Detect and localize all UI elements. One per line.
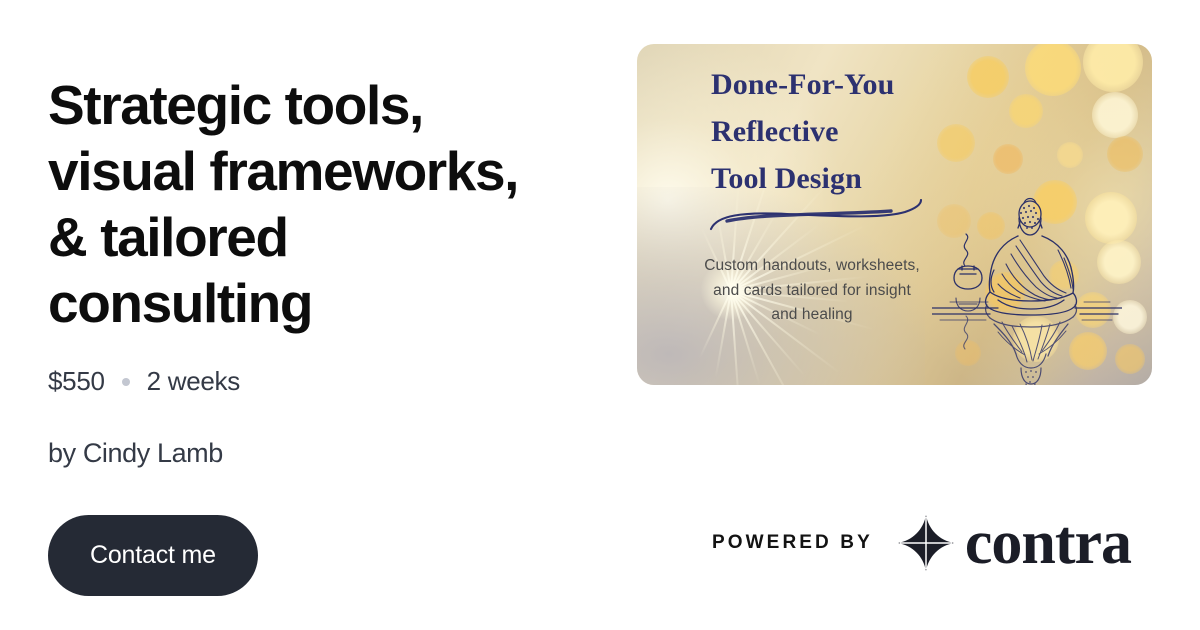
promo-card-page: Strategic tools, visual frameworks, & ta… (0, 0, 1200, 630)
powered-by-contra: POWERED BY contra (712, 512, 1131, 574)
price-duration-row: $550 2 weeks (48, 366, 628, 397)
powered-by-label: POWERED BY (712, 532, 873, 554)
author-byline: by Cindy Lamb (48, 438, 628, 469)
buddha-illustration (932, 192, 1122, 385)
separator-dot-icon (122, 378, 130, 386)
title-swash-decoration (705, 199, 927, 233)
offering-details: Strategic tools, visual frameworks, & ta… (48, 72, 628, 596)
offering-thumbnail-card[interactable]: Done-For-You Reflective Tool Design Cust… (637, 44, 1152, 385)
card-title: Done-For-You Reflective Tool Design (711, 61, 961, 202)
duration-value: 2 weeks (147, 366, 240, 397)
card-description: Custom handouts, worksheets, and cards t… (703, 254, 921, 328)
contra-wordmark: contra (965, 512, 1131, 574)
price-value: $550 (48, 366, 105, 397)
page-title: Strategic tools, visual frameworks, & ta… (48, 72, 628, 336)
contact-me-button[interactable]: Contact me (48, 515, 258, 596)
contra-four-point-star-icon (895, 512, 957, 574)
